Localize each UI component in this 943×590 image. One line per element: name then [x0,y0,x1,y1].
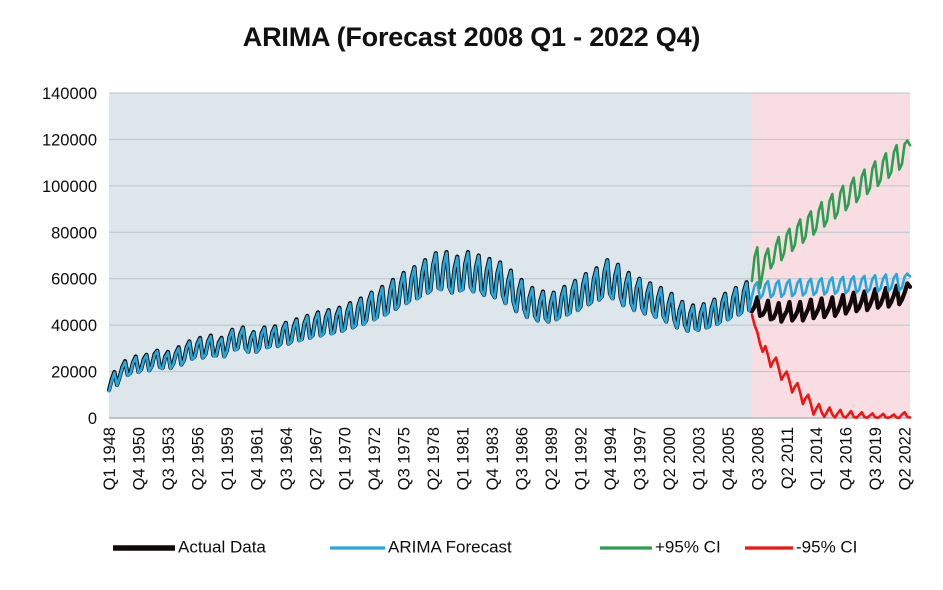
x-axis-tick-label: Q1 1992 [573,427,591,490]
x-axis-tick-label: Q3 1953 [160,427,178,490]
y-axis-tick-label: 40000 [51,317,97,335]
x-axis-tick-label: Q3 2008 [749,427,767,490]
x-axis-tick-label: Q4 1994 [602,427,620,490]
x-axis-tick-label: Q4 2005 [720,427,738,490]
x-axis-tick-label: Q3 1997 [631,427,649,490]
x-axis-tick-label: Q4 2016 [838,427,856,490]
x-axis-tick-label: Q4 1950 [131,427,149,490]
x-axis-tick-label: Q1 1981 [455,427,473,490]
x-axis-tick-label: Q3 1975 [396,427,414,490]
legend-label: ARIMA Forecast [388,537,512,556]
x-axis-tick-label: Q4 1983 [484,427,502,490]
x-axis-tick-label: Q2 1978 [425,427,443,490]
legend-label: Actual Data [178,537,266,556]
x-axis-tick-label: Q2 2000 [661,427,679,490]
x-axis-tick-label: Q1 1948 [101,427,119,490]
legend-item--95-ci: -95% CI [745,537,857,556]
y-axis-tick-label: 120000 [42,131,97,149]
x-axis-tick-label: Q2 2011 [779,427,797,489]
x-axis-tick-label: Q1 2014 [808,427,826,490]
y-axis-tick-label: 60000 [51,271,97,289]
legend-item--95-ci: +95% CI [600,537,721,556]
x-axis-tick-label: Q2 1956 [189,427,207,490]
x-axis-tick-label: Q3 2019 [867,427,885,490]
x-axis-tick-label: Q1 1970 [337,427,355,490]
x-axis-tick-label: Q2 2022 [897,427,915,490]
x-axis-tick-label: Q1 2003 [690,427,708,490]
x-axis-tick-label: Q4 1961 [248,427,266,490]
y-axis-tick-label: 0 [88,410,97,428]
x-axis-tick-label: Q2 1967 [307,427,325,490]
x-axis-tick-label: Q3 1964 [278,427,296,490]
x-axis-tick-label: Q4 1972 [366,427,384,490]
y-axis-tick-label: 20000 [51,364,97,382]
plot-background-historical [109,93,752,418]
y-axis-tick-label: 80000 [51,224,97,242]
arima-forecast-chart: ARIMA (Forecast 2008 Q1 - 2022 Q4) 02000… [0,0,943,590]
legend-label: -95% CI [796,537,857,556]
legend-item-arima-forecast: ARIMA Forecast [330,537,512,556]
legend-label: +95% CI [655,537,721,556]
x-axis-tick-label: Q3 1986 [514,427,532,490]
y-axis-tick-label: 100000 [42,178,97,196]
y-axis-tick-label: 140000 [42,85,97,103]
x-axis-tick-label: Q1 1959 [219,427,237,490]
legend-item-actual-data: Actual Data [113,537,266,556]
x-axis-tick-label: Q2 1989 [543,427,561,490]
chart-plot-area: 020000400006000080000100000120000140000Q… [0,0,943,590]
